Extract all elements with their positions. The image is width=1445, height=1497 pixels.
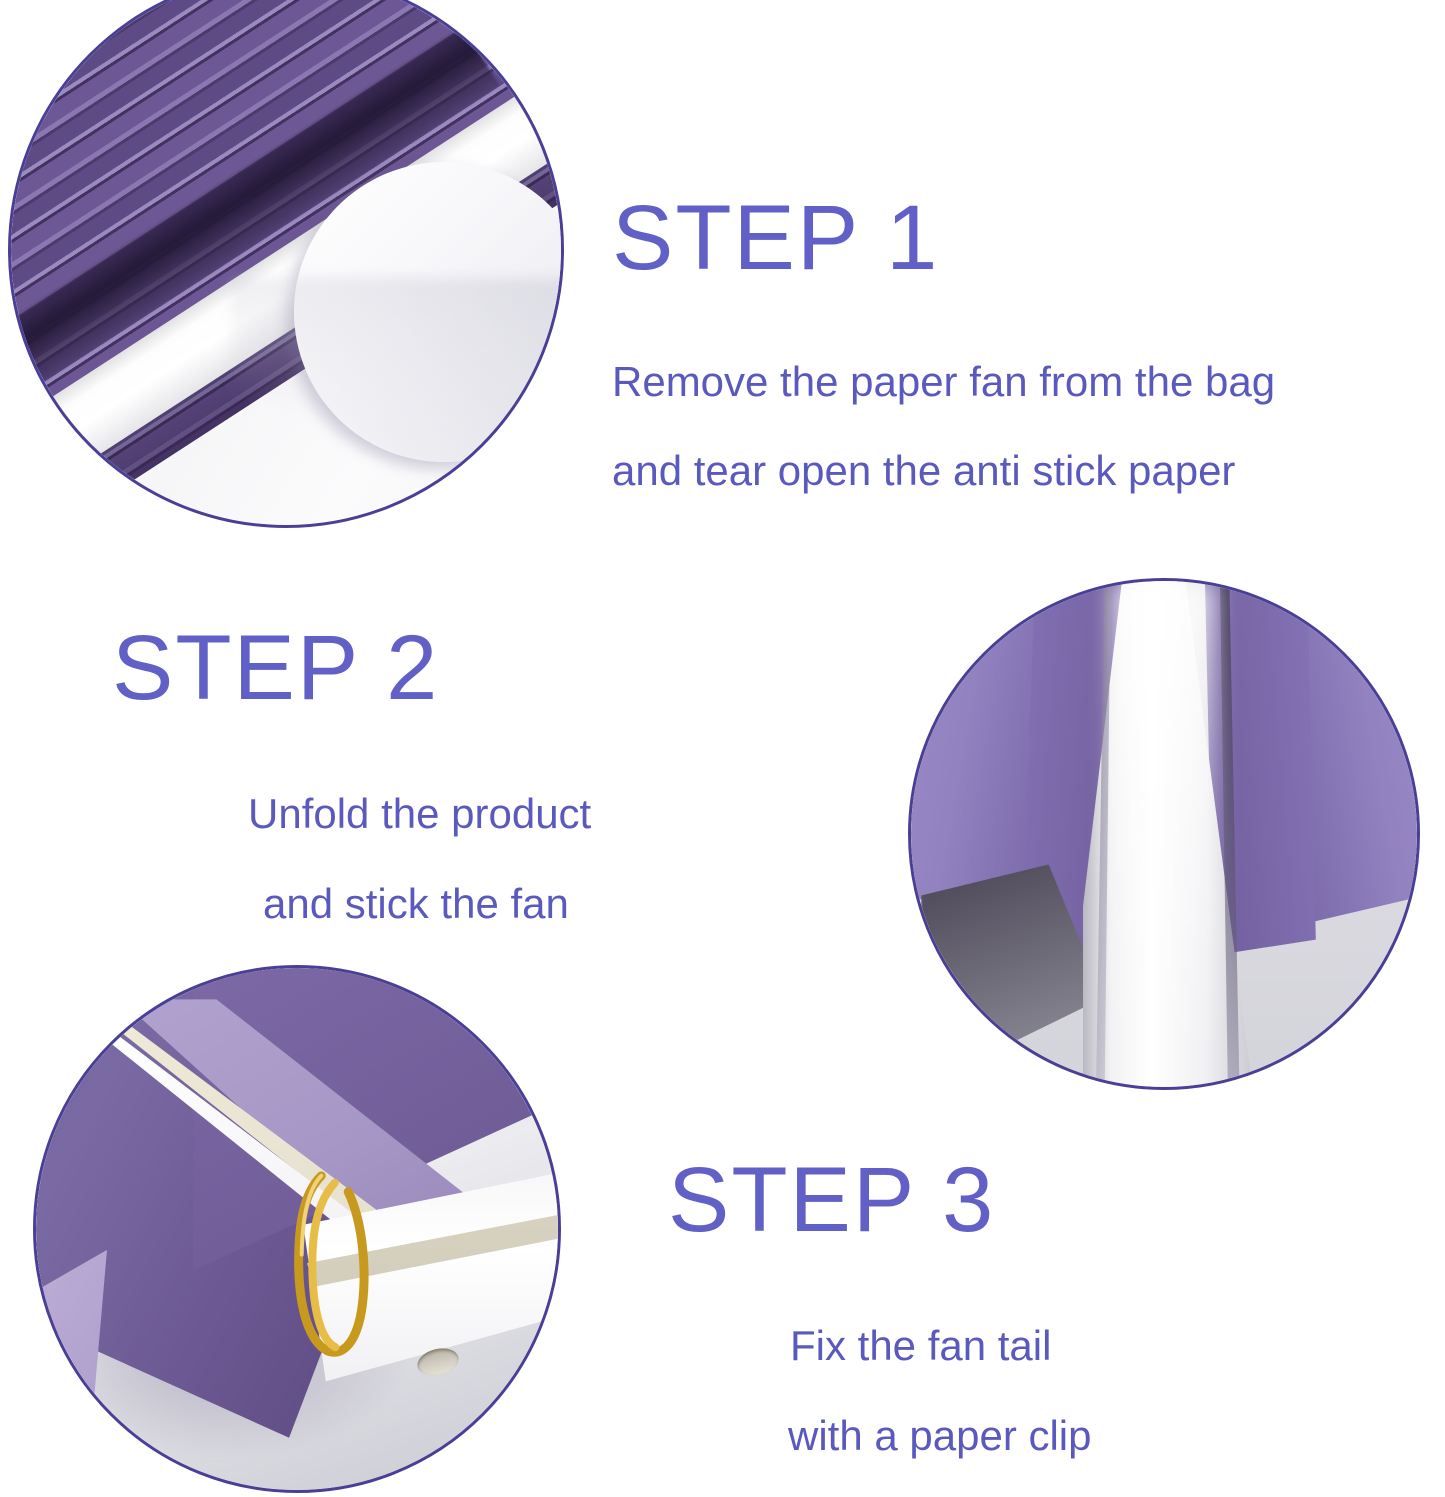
step-1-line-1: Remove the paper fan from the bag xyxy=(612,361,1275,403)
strip-highlight xyxy=(1113,581,1214,1087)
instruction-infographic: STEP 1 Remove the paper fan from the bag… xyxy=(0,0,1445,1497)
photo-step-2-unfolded-fan-center-strip xyxy=(908,578,1420,1090)
step-2-text-block: STEP 2 Unfold the product and stick the … xyxy=(108,620,591,925)
step-2-line-2: and stick the fan xyxy=(263,883,591,925)
step-2-line-1: Unfold the product xyxy=(248,793,591,835)
step-3-line-2: with a paper clip xyxy=(788,1415,1092,1457)
step-3-text-block: STEP 3 Fix the fan tail with a paper cli… xyxy=(668,1152,1092,1457)
step-3-heading: STEP 3 xyxy=(668,1152,1092,1249)
photo-step-3-content xyxy=(36,968,558,1490)
paper-clip-icon xyxy=(274,1158,396,1375)
photo-step-1-folded-paper-fan-with-anti-stick-paper xyxy=(8,0,564,528)
step-1-text-block: STEP 1 Remove the paper fan from the bag… xyxy=(612,190,1275,492)
photo-step-3-paper-clip-fixing-fan-tail xyxy=(33,965,561,1493)
step-2-heading: STEP 2 xyxy=(112,620,591,717)
photo-step-2-content xyxy=(911,581,1417,1087)
step-1-heading: STEP 1 xyxy=(612,190,1275,287)
step-3-line-1: Fix the fan tail xyxy=(790,1325,1092,1367)
step-1-line-2: and tear open the anti stick paper xyxy=(612,450,1275,492)
peel-shadow xyxy=(231,278,561,526)
photo-step-1-content xyxy=(11,0,561,525)
